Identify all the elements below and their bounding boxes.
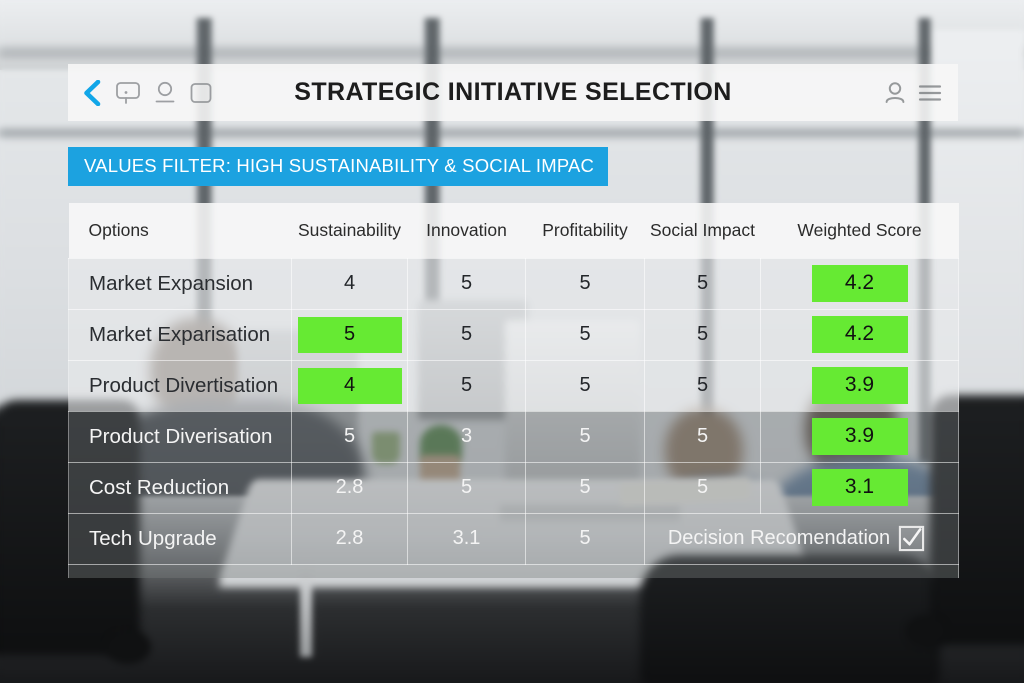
cell-option-name[interactable]: Tech Upgrade xyxy=(69,513,292,564)
table-row[interactable]: Cost Reduction2.85553.1 xyxy=(69,462,959,513)
cell-profitability[interactable]: 5 xyxy=(526,513,645,564)
cell-option-name[interactable]: Product Divertisation xyxy=(69,360,292,411)
cell-innovation[interactable]: 3 xyxy=(408,411,526,462)
highlight-badge: 5 xyxy=(298,317,402,353)
column-header-weighted-score[interactable]: Weighted Score xyxy=(761,203,959,258)
title-bar: STRATEGIC INITIATIVE SELECTION xyxy=(68,64,958,121)
highlight-badge: 4.2 xyxy=(812,265,908,302)
column-header-options[interactable]: Options xyxy=(69,203,292,258)
cell-option-name[interactable]: Market Exparisation xyxy=(69,309,292,360)
cell-sustainability[interactable]: 2.8 xyxy=(292,513,408,564)
cell-weighted-score[interactable]: 3.9 xyxy=(761,360,959,411)
table-body: Market Expansion45554.2Market Exparisati… xyxy=(69,258,959,564)
hamburger-menu-icon[interactable] xyxy=(918,82,942,104)
comment-bubble-icon[interactable] xyxy=(115,81,141,105)
decision-recommendation-wrap: Decision Recomendation xyxy=(668,525,925,552)
cell-profitability[interactable]: 5 xyxy=(526,360,645,411)
cell-option-name[interactable]: Product Diverisation xyxy=(69,411,292,462)
cell-innovation[interactable]: 5 xyxy=(408,360,526,411)
cell-weighted-score[interactable]: 4.2 xyxy=(761,258,959,309)
cell-innovation[interactable]: 5 xyxy=(408,309,526,360)
cell-social-impact[interactable]: 5 xyxy=(645,462,761,513)
cell-sustainability[interactable]: 4 xyxy=(292,360,408,411)
cell-sustainability[interactable]: 4 xyxy=(292,258,408,309)
values-filter-chip[interactable]: VALUES FILTER: HIGH SUSTAINABILITY & SOC… xyxy=(68,147,608,186)
table-row[interactable]: Product Divertisation45553.9 xyxy=(69,360,959,411)
column-header-sustainability[interactable]: Sustainability xyxy=(292,203,408,258)
table-footer-strip xyxy=(69,564,959,578)
highlight-badge: 4.2 xyxy=(812,316,908,353)
cell-sustainability[interactable]: 5 xyxy=(292,309,408,360)
cell-weighted-score[interactable]: 3.9 xyxy=(761,411,959,462)
decision-recommendation-label: Decision Recomendation xyxy=(668,527,890,550)
highlight-badge: 3.1 xyxy=(812,469,908,506)
cell-innovation[interactable]: 3.1 xyxy=(408,513,526,564)
account-person-icon[interactable] xyxy=(884,81,906,105)
column-header-profitability[interactable]: Profitability xyxy=(526,203,645,258)
cell-social-impact[interactable]: 5 xyxy=(645,258,761,309)
highlight-badge: 4 xyxy=(298,368,402,404)
cell-weighted-score[interactable]: 3.1 xyxy=(761,462,959,513)
cell-innovation[interactable]: 5 xyxy=(408,258,526,309)
table-row[interactable]: Tech Upgrade2.83.15Decision Recomendatio… xyxy=(69,513,959,564)
title-bar-right-icons xyxy=(884,81,942,105)
cell-sustainability[interactable]: 2.8 xyxy=(292,462,408,513)
table-row[interactable]: Product Diverisation53553.9 xyxy=(69,411,959,462)
cell-profitability[interactable]: 5 xyxy=(526,258,645,309)
bg-chair-wheel xyxy=(905,615,947,647)
highlight-badge: 3.9 xyxy=(812,418,908,455)
cell-innovation[interactable]: 5 xyxy=(408,462,526,513)
cell-option-name[interactable]: Cost Reduction xyxy=(69,462,292,513)
cell-sustainability[interactable]: 5 xyxy=(292,411,408,462)
cell-profitability[interactable]: 5 xyxy=(526,411,645,462)
table-row[interactable]: Market Expansion45554.2 xyxy=(69,258,959,309)
cell-weighted-score[interactable]: 4.2 xyxy=(761,309,959,360)
initiative-scoring-table: Options Sustainability Innovation Profit… xyxy=(68,203,959,578)
app-overlay: STRATEGIC INITIATIVE SELECTION VALUES FI… xyxy=(68,64,958,578)
cell-option-name[interactable]: Market Expansion xyxy=(69,258,292,309)
cell-social-impact[interactable]: 5 xyxy=(645,411,761,462)
bg-chair-wheel xyxy=(105,630,151,664)
cell-profitability[interactable]: 5 xyxy=(526,462,645,513)
table-row[interactable]: Market Exparisation55554.2 xyxy=(69,309,959,360)
back-chevron-icon[interactable] xyxy=(82,80,102,106)
checkbox-checked-icon[interactable] xyxy=(898,525,925,552)
cell-social-impact[interactable]: 5 xyxy=(645,309,761,360)
column-header-social-impact[interactable]: Social Impact xyxy=(645,203,761,258)
bg-ceiling-beam xyxy=(0,46,1024,58)
cell-social-impact[interactable]: 5 xyxy=(645,360,761,411)
table-header-row: Options Sustainability Innovation Profit… xyxy=(69,203,959,258)
person-circle-icon[interactable] xyxy=(154,81,176,105)
column-header-innovation[interactable]: Innovation xyxy=(408,203,526,258)
highlight-badge: 3.9 xyxy=(812,367,908,404)
decision-recommendation-cell[interactable]: Decision Recomendation xyxy=(645,513,959,564)
title-bar-left-icons xyxy=(82,80,213,106)
rounded-square-icon[interactable] xyxy=(189,81,213,105)
cell-profitability[interactable]: 5 xyxy=(526,309,645,360)
